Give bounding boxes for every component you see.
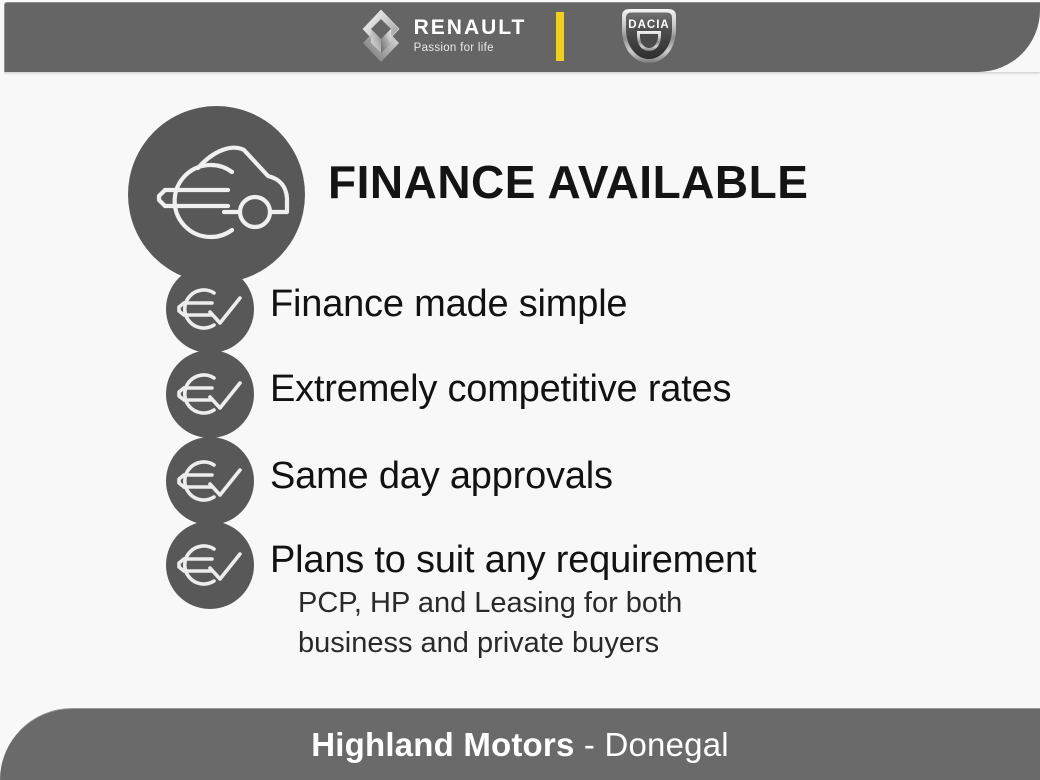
- svg-text:DACIA: DACIA: [629, 19, 670, 31]
- dealer-name: Highland Motors: [311, 726, 574, 763]
- euro-check-icon: [166, 521, 254, 609]
- yellow-divider: [556, 12, 564, 61]
- main-content: FINANCE AVAILABLE Finance m: [0, 75, 1040, 705]
- dacia-shield-icon: DACIA: [616, 7, 682, 65]
- euro-check-icon: [166, 350, 254, 438]
- list-item: Extremely competitive rates: [0, 350, 1040, 438]
- footer-bar: Highland Motors - Donegal: [0, 708, 1040, 780]
- renault-diamond-icon: [358, 9, 404, 63]
- dealer-location: Donegal: [604, 726, 728, 763]
- list-item-label: Plans to suit any requirement: [270, 539, 756, 582]
- dealer-separator: -: [575, 726, 605, 763]
- list-item: Same day approvals: [0, 437, 1040, 525]
- dealer-banner: Highland Motors - Donegal: [311, 726, 729, 764]
- list-item-label: Same day approvals: [270, 455, 613, 498]
- list-item: Plans to suit any requirement PCP, HP an…: [0, 521, 1040, 609]
- brand-logo-row: RENAULT Passion for life: [0, 0, 1040, 72]
- list-item: Finance made simple: [0, 265, 1040, 353]
- list-item-label: Finance made simple: [270, 283, 627, 326]
- renault-text-block: RENAULT Passion for life: [414, 17, 527, 55]
- euro-car-finance-icon: [128, 106, 305, 283]
- list-item-subtext: PCP, HP and Leasing for both business an…: [298, 583, 682, 663]
- list-item-label: Extremely competitive rates: [270, 368, 731, 411]
- renault-wordmark: RENAULT: [414, 17, 527, 38]
- euro-check-icon: [166, 437, 254, 525]
- finance-available-banner: RENAULT Passion for life: [0, 0, 1040, 780]
- euro-check-icon: [166, 265, 254, 353]
- renault-logo: RENAULT Passion for life: [358, 9, 527, 63]
- renault-tagline: Passion for life: [414, 43, 527, 55]
